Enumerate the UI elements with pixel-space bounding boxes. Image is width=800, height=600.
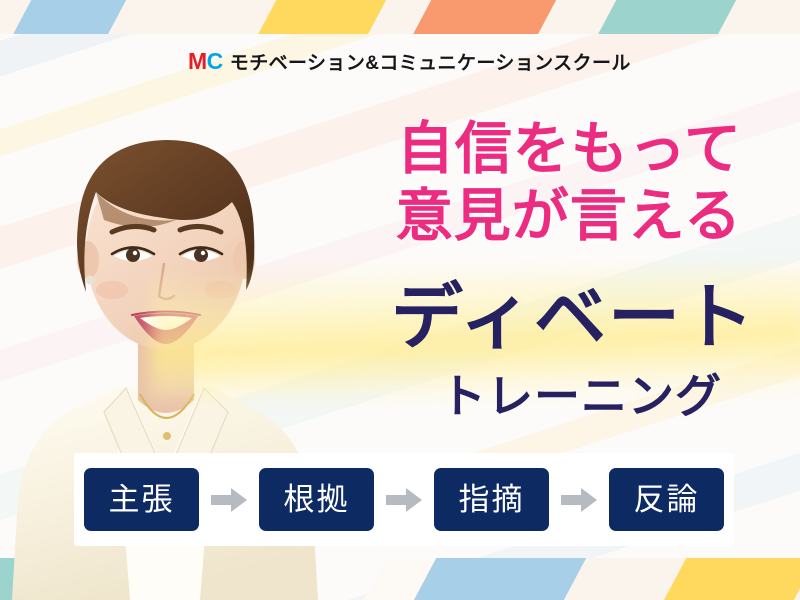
arrow-right-icon [559,485,599,515]
flow-step-evidence-label: 根拠 [284,484,350,515]
flow-step-rebuttal[interactable]: 反論 [609,468,724,531]
arrow-right-icon-glyph [384,486,424,514]
promo-banner: M C モチベーション&コミュニケーションスクール 自信をもって 意見が言える … [0,0,800,600]
arrow-right-icon-glyph [209,486,249,514]
logo-mark-m: M [188,48,207,75]
flow-step-claim-label: 主張 [109,484,175,515]
title-sub: トレーニング [440,373,722,419]
flow-step-evidence[interactable]: 根拠 [259,468,374,531]
debate-flow-row: 主張 根拠 指摘 [84,468,724,531]
flow-step-critique[interactable]: 指摘 [434,468,549,531]
brand-logo: M C モチベーション&コミュニケーションスクール [188,48,631,75]
logo-school-name: モチベーション&コミュニケーションスクール [230,48,631,75]
flow-step-critique-label: 指摘 [459,484,525,515]
flow-step-rebuttal-label: 反論 [634,484,700,515]
debate-flow-panel: 主張 根拠 指摘 [74,453,734,546]
headline: 自信をもって 意見が言える [396,116,742,249]
title-main: ディベート [391,282,756,354]
arrow-right-icon [209,485,249,515]
logo-mark-c: C [207,48,223,75]
headline-line-2: 意見が言える [396,183,742,250]
arrow-right-icon [384,485,424,515]
arrow-right-icon-glyph [559,486,599,514]
flow-step-claim[interactable]: 主張 [84,468,199,531]
headline-line-1: 自信をもって [396,116,742,183]
